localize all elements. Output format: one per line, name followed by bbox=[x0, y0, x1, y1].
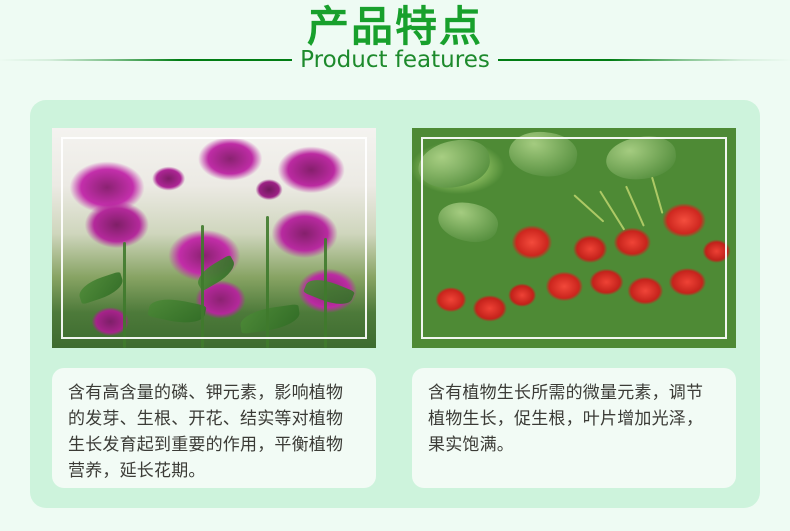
subtitle-row: Product features bbox=[0, 44, 790, 76]
feature-1-text-box: 含有高含量的磷、钾元素，影响植物的发芽、生根、开花、结实等对植物生长发育起到重要… bbox=[52, 368, 376, 488]
ripe-strawberries-photo bbox=[412, 128, 736, 348]
divider-line-right bbox=[498, 59, 790, 61]
feature-2-description: 含有植物生长所需的微量元素，调节植物生长，促生根，叶片增加光泽，果实饱满。 bbox=[428, 380, 720, 458]
feature-2-photo bbox=[412, 128, 736, 348]
feature-1-photo bbox=[52, 128, 376, 348]
feature-item-2: 含有植物生长所需的微量元素，调节植物生长，促生根，叶片增加光泽，果实饱满。 bbox=[412, 100, 757, 508]
feature-item-1: 含有高含量的磷、钾元素，影响植物的发芽、生根、开花、结实等对植物生长发育起到重要… bbox=[52, 100, 397, 508]
purple-chrysanthemum-flowers-photo bbox=[52, 128, 376, 348]
page-header: 产品特点 Product features bbox=[0, 0, 790, 100]
features-row: 含有高含量的磷、钾元素，影响植物的发芽、生根、开花、结实等对植物生长发育起到重要… bbox=[30, 100, 760, 508]
page-subtitle: Product features bbox=[300, 47, 490, 73]
feature-1-description: 含有高含量的磷、钾元素，影响植物的发芽、生根、开花、结实等对植物生长发育起到重要… bbox=[68, 380, 360, 484]
features-card: 含有高含量的磷、钾元素，影响植物的发芽、生根、开花、结实等对植物生长发育起到重要… bbox=[30, 100, 760, 508]
feature-2-text-box: 含有植物生长所需的微量元素，调节植物生长，促生根，叶片增加光泽，果实饱满。 bbox=[412, 368, 736, 488]
divider-line-left bbox=[0, 59, 292, 61]
